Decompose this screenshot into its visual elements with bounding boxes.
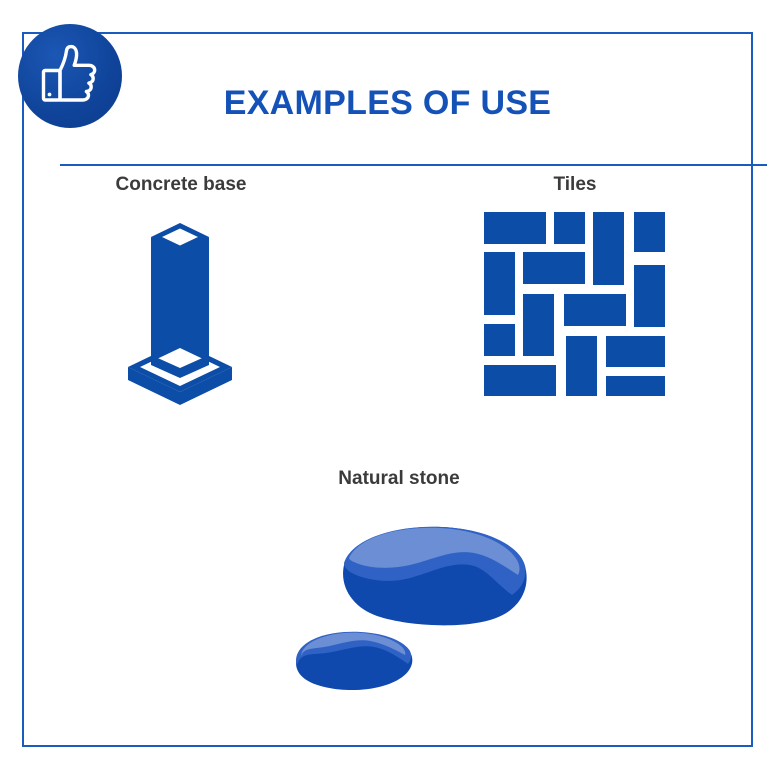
header-divider (60, 164, 767, 166)
example-label-concrete-base: Concrete base (71, 174, 291, 196)
tiles-illustration (478, 208, 672, 400)
header: EXAMPLES OF USE (22, 32, 753, 135)
page-root: EXAMPLES OF USE Concrete base (0, 0, 768, 768)
thumbs-up-icon (18, 24, 122, 128)
example-label-natural-stone: Natural stone (288, 468, 510, 490)
natural-stone-illustration (282, 508, 542, 704)
large-stone (343, 527, 527, 626)
concrete-base-illustration (110, 215, 250, 405)
example-label-tiles: Tiles (485, 174, 665, 196)
page-title: EXAMPLES OF USE (22, 84, 753, 123)
small-stone (296, 632, 412, 690)
